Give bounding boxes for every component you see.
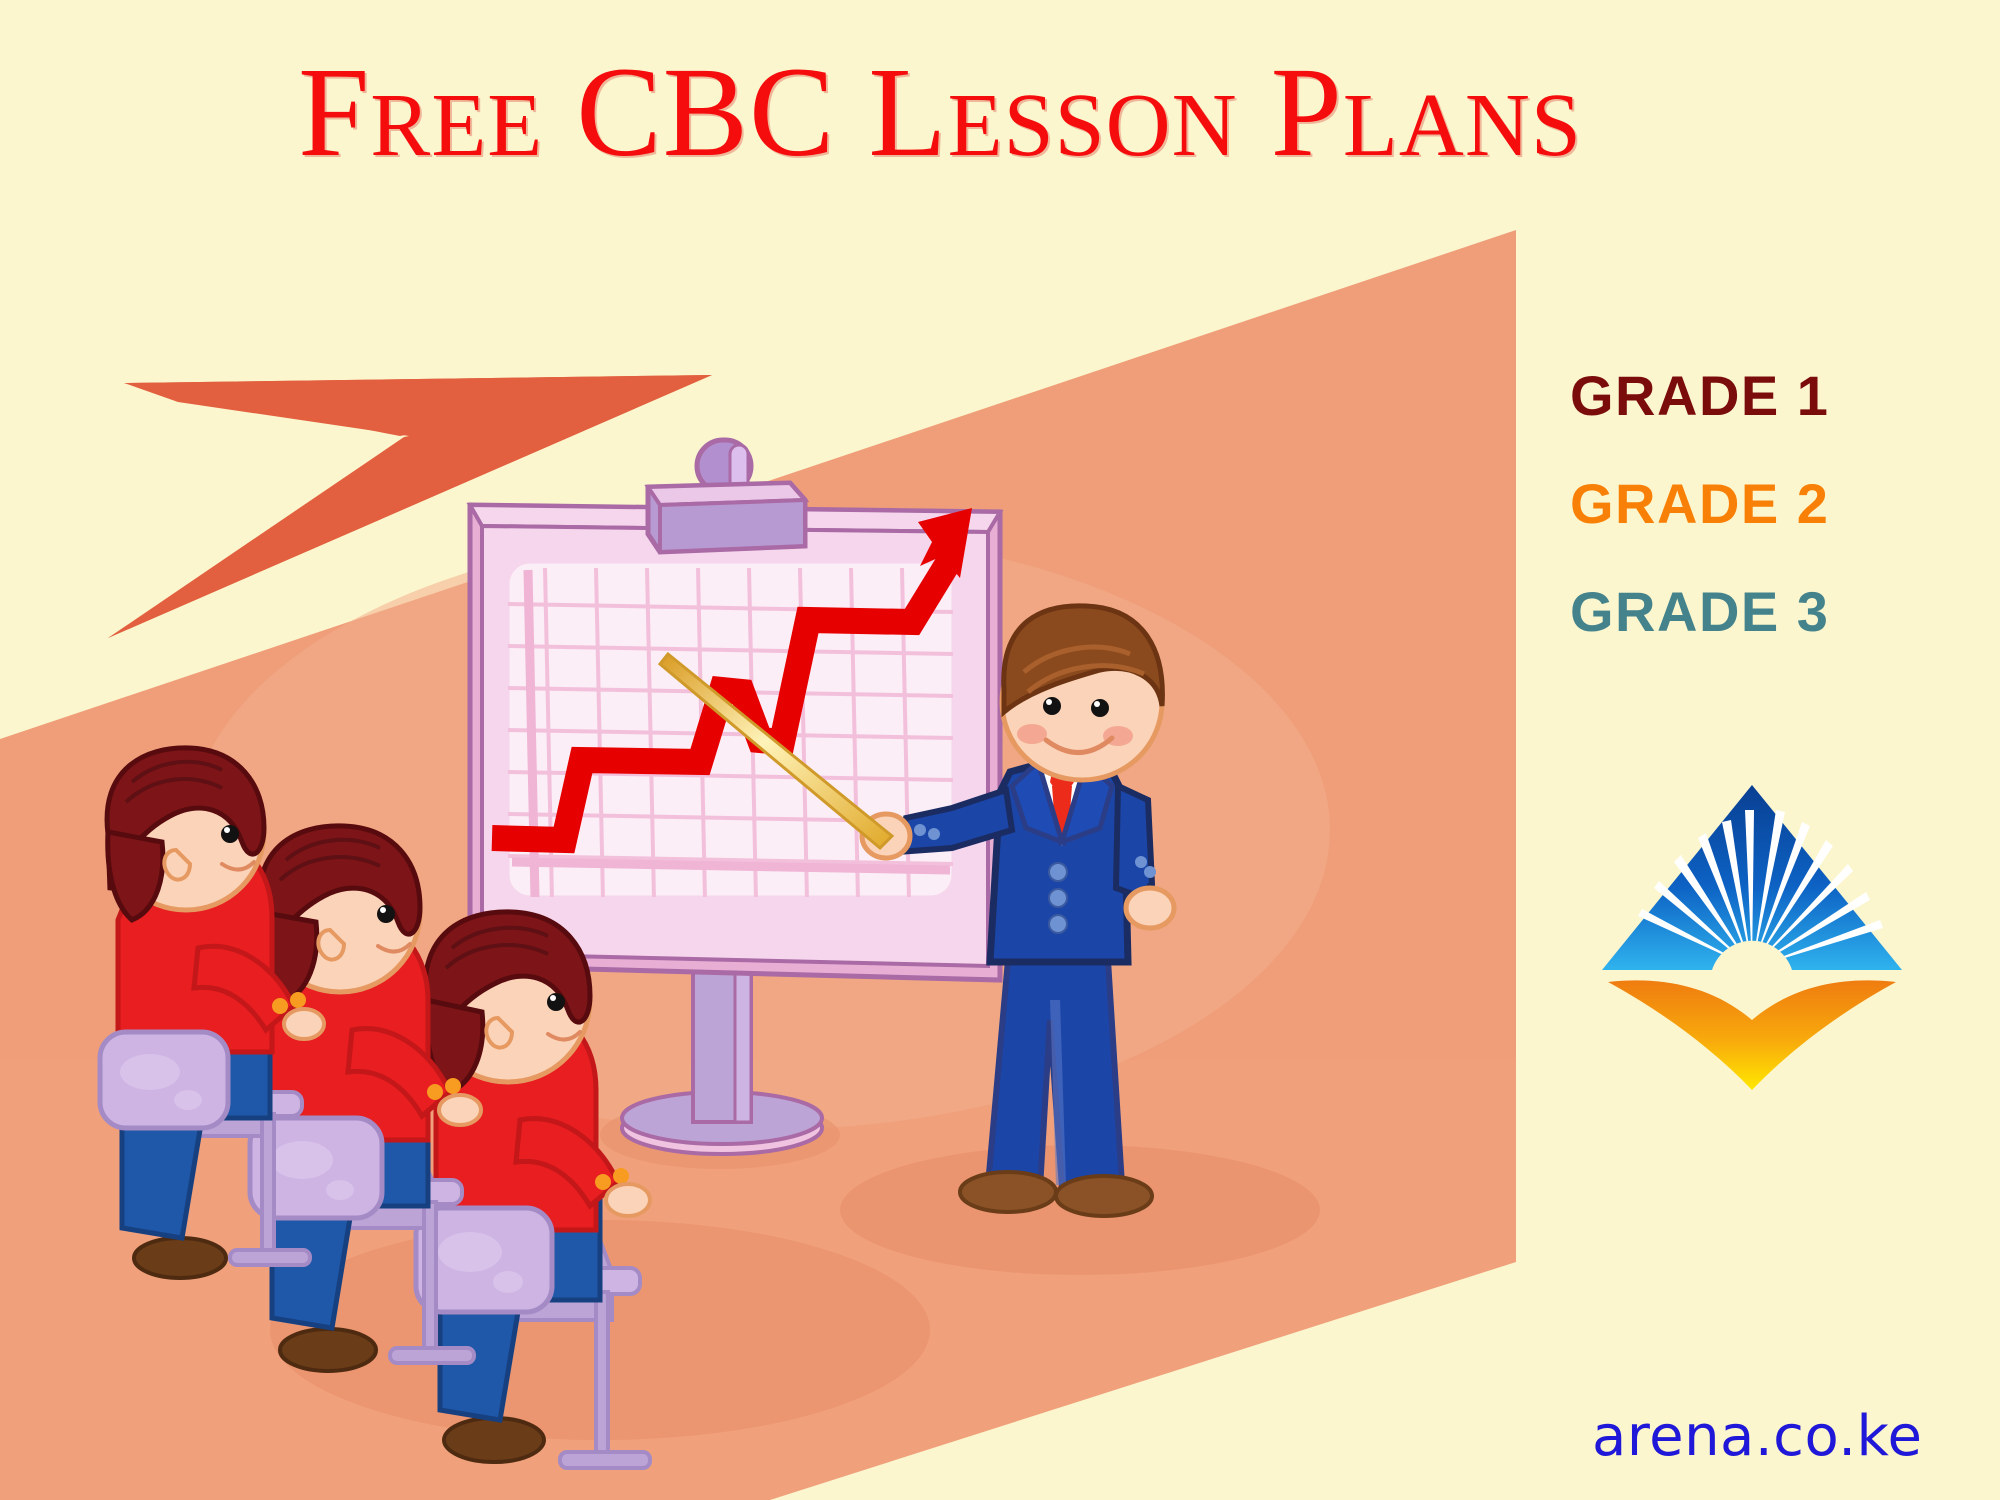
site-url[interactable]: arena.co.ke (1592, 1404, 1922, 1469)
poster-canvas: Free CBC Lesson Plans GRADE 1 GRADE 2 GR… (0, 0, 2000, 1500)
grade-item-2[interactable]: GRADE 2 (1570, 476, 1970, 532)
classroom-illustration (0, 0, 2000, 1500)
presentation-chart-board (470, 505, 1000, 980)
grade-list: GRADE 1 GRADE 2 GRADE 3 (1570, 368, 1970, 692)
grade-item-3[interactable]: GRADE 3 (1570, 584, 1970, 640)
grade-item-1[interactable]: GRADE 1 (1570, 368, 1970, 424)
